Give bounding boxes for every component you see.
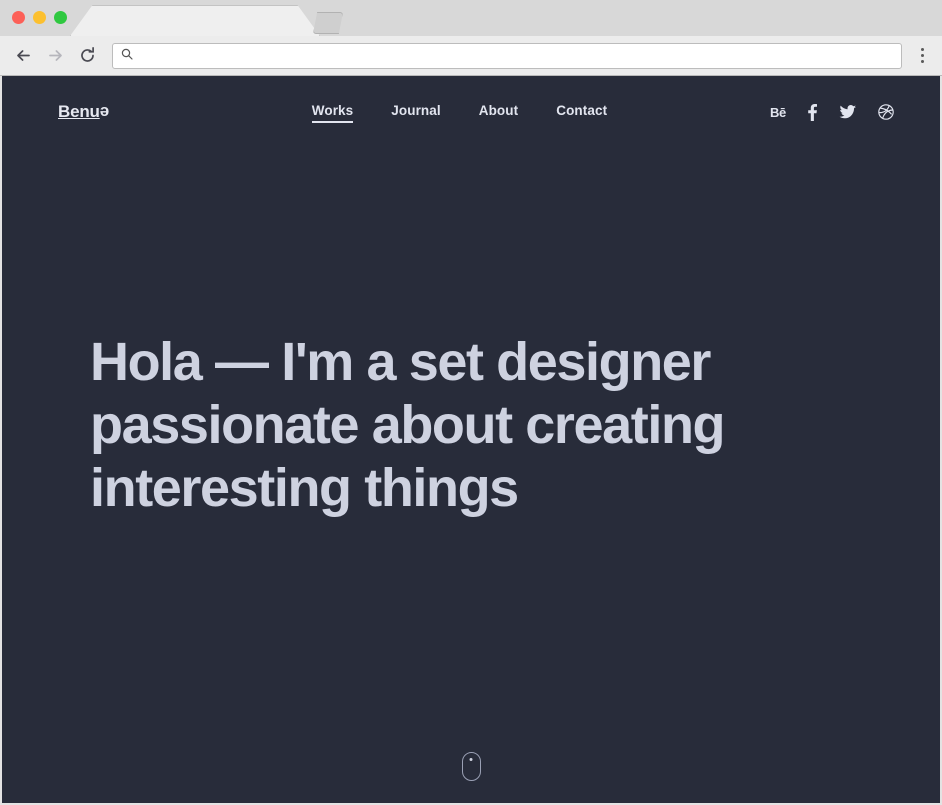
- nav-item-contact[interactable]: Contact: [556, 103, 607, 122]
- hero-heading-line-3: interesting things: [90, 457, 880, 520]
- main-navigation: Works Journal About Contact: [149, 103, 770, 122]
- back-arrow-icon: [14, 46, 33, 65]
- back-button[interactable]: [8, 41, 38, 71]
- hero-heading-line-2: passionate about creating: [90, 394, 880, 457]
- browser-toolbar: [0, 36, 942, 76]
- facebook-icon[interactable]: [808, 104, 817, 121]
- kebab-menu-icon: [921, 48, 924, 51]
- nav-item-works[interactable]: Works: [312, 103, 354, 122]
- reload-button[interactable]: [72, 41, 102, 71]
- window-minimize-button[interactable]: [33, 11, 46, 24]
- browser-window: Benue Works Journal About Contact Bē: [0, 0, 942, 805]
- twitter-icon[interactable]: [839, 105, 856, 120]
- behance-icon[interactable]: Bē: [770, 105, 786, 120]
- site-logo-tail: e: [100, 102, 109, 122]
- hero-section: Hola — I'm a set designer passionate abo…: [90, 331, 880, 520]
- new-tab-button[interactable]: [313, 12, 343, 34]
- hero-heading: Hola — I'm a set designer passionate abo…: [90, 331, 880, 520]
- page-viewport: Benue Works Journal About Contact Bē: [0, 76, 942, 805]
- nav-item-about[interactable]: About: [479, 103, 518, 122]
- kebab-menu-icon: [921, 54, 924, 57]
- scroll-indicator[interactable]: [2, 752, 940, 781]
- site-logo-text: Benu: [58, 102, 100, 121]
- window-close-button[interactable]: [12, 11, 25, 24]
- address-input[interactable]: [140, 49, 893, 63]
- window-traffic-lights: [12, 11, 67, 24]
- browser-menu-button[interactable]: [910, 41, 934, 71]
- social-links: Bē: [770, 104, 894, 121]
- address-bar[interactable]: [112, 43, 902, 69]
- search-icon: [121, 47, 133, 65]
- reload-icon: [78, 46, 97, 65]
- browser-tab-active[interactable]: [70, 5, 320, 36]
- site-header: Benue Works Journal About Contact Bē: [2, 76, 940, 148]
- window-maximize-button[interactable]: [54, 11, 67, 24]
- site-logo[interactable]: Benue: [58, 102, 109, 122]
- nav-item-journal[interactable]: Journal: [391, 103, 440, 122]
- behance-icon-label: Bē: [770, 105, 786, 120]
- dribbble-icon[interactable]: [878, 104, 894, 120]
- forward-arrow-icon: [46, 46, 65, 65]
- kebab-menu-icon: [921, 60, 924, 63]
- forward-button[interactable]: [40, 41, 70, 71]
- scroll-mouse-icon: [462, 752, 481, 781]
- tab-strip: [0, 0, 942, 36]
- hero-heading-line-1: Hola — I'm a set designer: [90, 331, 880, 394]
